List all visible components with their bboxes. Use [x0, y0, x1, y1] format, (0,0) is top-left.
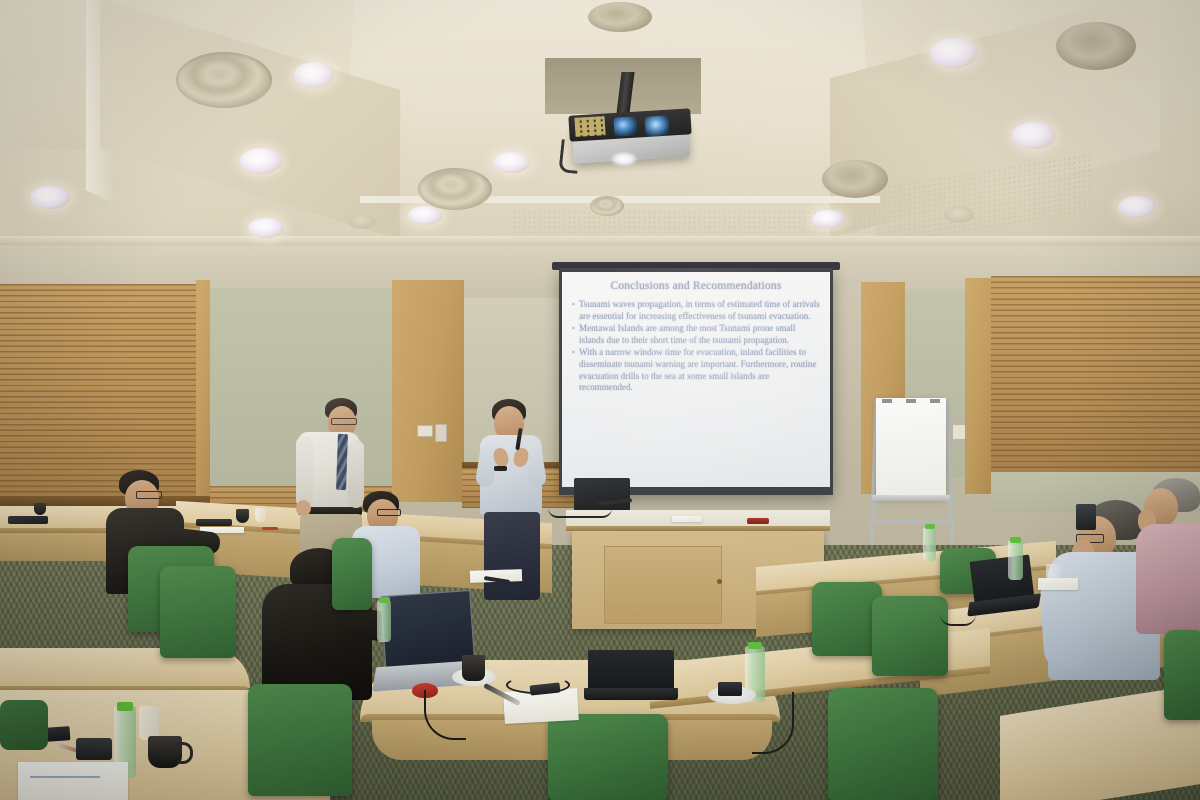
presentation-slide: Conclusions and Recommendations • Tsunam…	[562, 272, 830, 487]
desk-equipment-left	[8, 516, 48, 524]
coffee-cup-front-left	[148, 736, 182, 768]
laptop-black-open-screen[interactable]	[588, 650, 674, 690]
bottle-cap-center-left	[379, 597, 390, 603]
green-office-chair-5[interactable]	[548, 714, 668, 800]
green-office-chair-8[interactable]	[828, 688, 938, 800]
standing-man-left-hand	[296, 500, 311, 516]
standing-man-left-arm-right	[348, 440, 364, 508]
green-office-chair-4[interactable]	[332, 538, 372, 610]
attendee-blue-glasses	[377, 509, 401, 516]
coffee-cup-back-left	[34, 503, 46, 515]
wall-panel-right-of-screen	[833, 286, 861, 486]
recessed-downlight-7	[930, 38, 978, 68]
projector-light-beam	[611, 152, 637, 166]
ceiling-trim-front	[0, 236, 1200, 245]
podium-cabinet-door	[604, 546, 722, 624]
projection-screen-surface: Conclusions and Recommendations • Tsunam…	[562, 272, 830, 487]
flipchart-marker-tray	[872, 495, 950, 501]
projector-lens-right	[644, 115, 669, 136]
drinking-glass-mid-left	[255, 508, 266, 522]
flipchart-easel[interactable]	[876, 398, 946, 498]
slide-bullet-3: • With a narrow window time for evacuati…	[572, 347, 820, 393]
water-bottle-right	[1008, 540, 1023, 580]
wall-wood-slat-right	[991, 276, 1200, 472]
water-bottle-back-right	[923, 527, 936, 561]
recessed-downlight-11	[944, 206, 974, 223]
ceiling-speaker-3	[588, 2, 652, 32]
recessed-downlight-8	[1012, 122, 1056, 149]
drinking-glass-front-left	[139, 706, 159, 740]
wall-wood-column-left	[196, 280, 210, 498]
power-cable-right	[940, 604, 976, 626]
wall-switch-plate[interactable]	[435, 424, 447, 442]
recessed-downlight-10	[812, 210, 844, 228]
podium-paper	[672, 516, 702, 522]
recessed-downlight-1	[294, 62, 334, 88]
ceiling-speaker-2	[822, 160, 888, 198]
flipchart-clip-3	[930, 399, 940, 403]
attendee-right-front-arm	[1039, 577, 1089, 670]
recessed-downlight-9	[1118, 196, 1156, 218]
green-office-chair-3[interactable]	[248, 684, 352, 796]
bottle-cap-front-left	[117, 702, 133, 711]
slide-bullet-1-text: Tsunami waves propagation, in terms of e…	[579, 299, 820, 322]
flipchart-clip-2	[906, 399, 916, 403]
projector-keypad-icon[interactable]	[574, 116, 605, 137]
red-marker-mid-left	[262, 527, 278, 530]
water-bottle-center-left	[377, 600, 391, 642]
green-office-chair-7[interactable]	[872, 596, 948, 676]
slide-bullet-3-text: With a narrow window time for evacuation…	[579, 347, 820, 393]
podium-cabinet-handle[interactable]	[717, 579, 722, 584]
laptop-black-open-base[interactable]	[584, 688, 678, 700]
bottle-cap-center	[748, 642, 762, 649]
circular-air-diffuser-3	[590, 196, 624, 216]
wall-wood-slat-left	[0, 284, 196, 496]
slide-title: Conclusions and Recommendations	[572, 280, 820, 292]
recessed-downlight-5	[408, 206, 442, 225]
green-office-chair-10[interactable]	[1164, 630, 1200, 720]
slide-bullet-2-text: Mentawai Islands are among the most Tsun…	[579, 323, 820, 346]
bullet-marker-icon-2: •	[572, 323, 579, 346]
presenter-watch	[494, 466, 507, 471]
presenter-trousers	[484, 512, 540, 600]
wall-door-panel	[392, 280, 464, 502]
bottle-cap-back-right	[925, 524, 935, 529]
adapter-center-right	[718, 682, 742, 696]
device-front-left-2	[76, 738, 112, 760]
flipchart-crossbar	[872, 520, 952, 523]
coffee-cup-mid-left	[236, 509, 249, 523]
slide-bullet-2: • Mentawai Islands are among the most Ts…	[572, 323, 820, 346]
attendee-right-front-device[interactable]	[1076, 504, 1096, 530]
flipchart-clip-1	[882, 399, 892, 403]
podium-cable-bundle	[548, 508, 612, 518]
recessed-downlight-3	[30, 186, 70, 209]
attendee-far-left-glasses	[136, 491, 162, 499]
recessed-downlight-4	[248, 218, 284, 238]
podium-remote[interactable]	[747, 518, 769, 524]
green-office-chair-11[interactable]	[0, 700, 48, 750]
bullet-marker-icon-3: •	[572, 347, 579, 393]
standing-man-left-tie	[336, 434, 348, 490]
paper-right	[1038, 578, 1078, 590]
ceiling-speaker-1	[1056, 22, 1136, 70]
recessed-downlight-2	[240, 148, 282, 174]
projector-lens-left	[613, 116, 637, 136]
recessed-downlight-12	[348, 214, 376, 229]
wall-power-socket[interactable]	[417, 425, 433, 437]
slide-bullet-list: • Tsunami waves propagation, in terms of…	[572, 299, 820, 394]
circular-air-diffuser-2	[418, 168, 492, 210]
paper-front-left	[18, 762, 128, 800]
standing-man-left-arm	[296, 436, 313, 508]
projection-screen: Conclusions and Recommendations • Tsunam…	[559, 268, 833, 495]
green-office-chair-2[interactable]	[160, 566, 236, 658]
standing-man-left-glasses	[331, 418, 357, 425]
attendee-right-back-shirt	[1136, 524, 1200, 634]
slide-bullet-1: • Tsunami waves propagation, in terms of…	[572, 299, 820, 322]
wall-wood-column-right	[965, 278, 991, 494]
projector-cable	[558, 139, 580, 174]
conference-room-photo: Conclusions and Recommendations • Tsunam…	[0, 0, 1200, 800]
circular-air-diffuser-1	[176, 52, 272, 108]
coffee-cup-center	[462, 655, 485, 681]
paper-front-left-line	[30, 776, 100, 778]
bottle-cap-right	[1010, 537, 1021, 543]
desk-device-mid-left	[196, 519, 232, 526]
bullet-marker-icon: •	[572, 299, 579, 322]
recessed-downlight-6	[494, 152, 530, 173]
